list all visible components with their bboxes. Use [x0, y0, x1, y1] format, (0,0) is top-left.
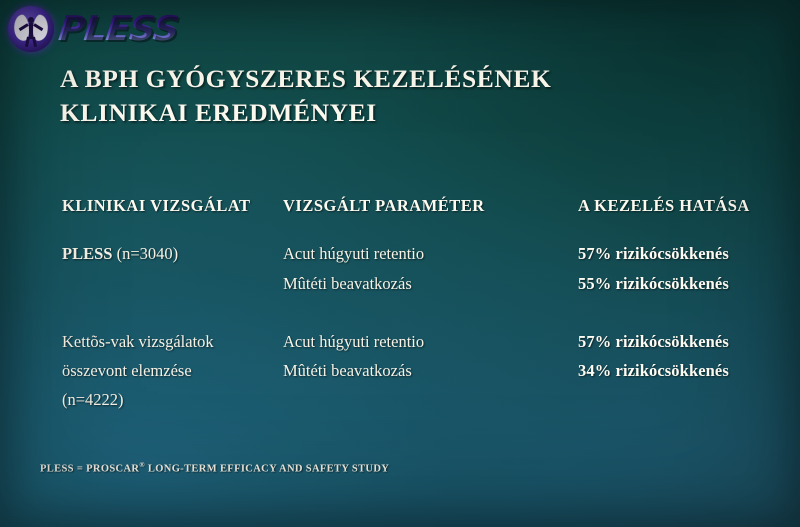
study-label-group-2-line-3: (n=4222) — [62, 390, 124, 410]
effect-g2-r2: 34% rizikócsökkenés — [578, 361, 729, 381]
parameter-g2-r1: Acut húgyuti retentio — [283, 332, 424, 352]
effect-g2-r1: 57% rizikócsökkenés — [578, 332, 729, 352]
column-header-study: KLINIKAI VIZSGÁLAT — [62, 196, 251, 216]
slide-title: A BPH GYÓGYSZERES KEZELÉSÉNEK KLINIKAI E… — [60, 62, 720, 130]
parameter-g2-r2: Mûtéti beavatkozás — [283, 361, 412, 381]
parameter-g1-r1: Acut húgyuti retentio — [283, 244, 424, 264]
figure-leg-left — [25, 37, 30, 47]
presentation-slide: PLESS A BPH GYÓGYSZERES KEZELÉSÉNEK KLIN… — [0, 0, 800, 527]
study-name-bold: PLESS — [62, 244, 112, 263]
footnote: PLESS = PROSCAR® LONG-TERM EFFICACY AND … — [40, 461, 389, 475]
pless-logo: PLESS — [8, 6, 175, 52]
pless-wordmark: PLESS — [57, 12, 180, 46]
footnote-prefix: PLESS = PROSCAR — [40, 464, 139, 475]
study-sample-size: (n=3040) — [112, 244, 178, 263]
slide-title-line-2: KLINIKAI EREDMÉNYEI — [60, 96, 720, 130]
parameter-g1-r2: Mûtéti beavatkozás — [283, 274, 412, 294]
study-label-group-2-line-1: Kettõs-vak vizsgálatok — [62, 332, 214, 352]
effect-g1-r2: 55% rizikócsökkenés — [578, 274, 729, 294]
effect-g1-r1: 57% rizikócsökkenés — [578, 244, 729, 264]
study-label-group-2-line-2: összevont elemzése — [62, 361, 192, 381]
study-label-group-1: PLESS (n=3040) — [62, 244, 178, 264]
butterfly-person-icon — [8, 6, 54, 52]
column-header-effect: A KEZELÉS HATÁSA — [578, 196, 750, 216]
column-header-parameter: VIZSGÁLT PARAMÉTER — [283, 196, 485, 216]
slide-title-line-1: A BPH GYÓGYSZERES KEZELÉSÉNEK — [60, 62, 720, 96]
footnote-suffix: LONG-TERM EFFICACY AND SAFETY STUDY — [145, 464, 389, 475]
